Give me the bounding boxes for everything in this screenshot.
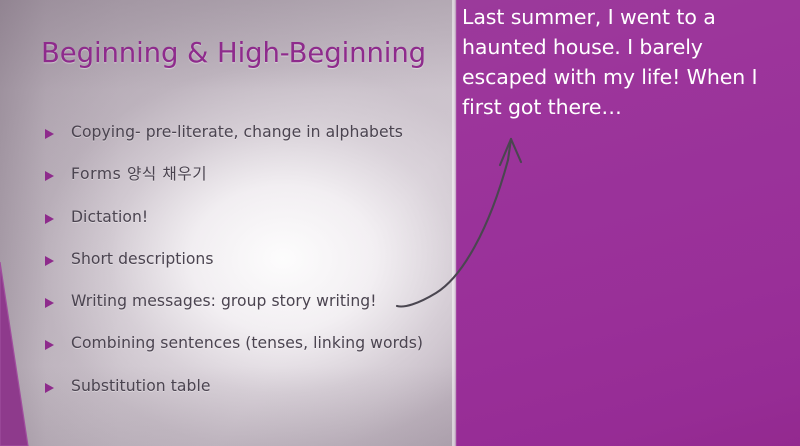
triangle-right-icon [45, 383, 54, 393]
list-item: Forms 양식 채우기 [45, 165, 450, 207]
triangle-right-icon [45, 256, 54, 266]
list-item-label: Forms 양식 채우기 [71, 165, 207, 184]
triangle-right-icon [45, 171, 54, 181]
list-item-label: Short descriptions [71, 250, 214, 269]
list-item-label: Dictation! [71, 208, 148, 227]
page-title: Beginning & High-Beginning [41, 38, 441, 70]
triangle-right-icon [45, 129, 54, 139]
triangle-right-icon [45, 340, 54, 350]
list-item-label: Copying- pre-literate, change in alphabe… [71, 123, 403, 142]
corner-wedge-decoration [0, 250, 40, 446]
callout-paragraph: Last summer, I went to a haunted house. … [462, 2, 782, 123]
list-item-label: Substitution table [71, 377, 210, 396]
list-item-label: Writing messages: group story writing! [71, 292, 377, 311]
triangle-right-icon [45, 214, 54, 224]
presentation-slide: Beginning & High-Beginning Copying- pre-… [0, 0, 800, 446]
list-item: Short descriptions [45, 250, 450, 292]
list-item: Dictation! [45, 208, 450, 250]
bullet-list: Copying- pre-literate, change in alphabe… [45, 123, 450, 419]
list-item: Copying- pre-literate, change in alphabe… [45, 123, 450, 165]
list-item: Substitution table [45, 377, 450, 419]
list-item: Combining sentences (tenses, linking wor… [45, 334, 450, 376]
triangle-right-icon [45, 298, 54, 308]
list-item-label: Combining sentences (tenses, linking wor… [71, 334, 423, 353]
list-item: Writing messages: group story writing! [45, 292, 450, 334]
